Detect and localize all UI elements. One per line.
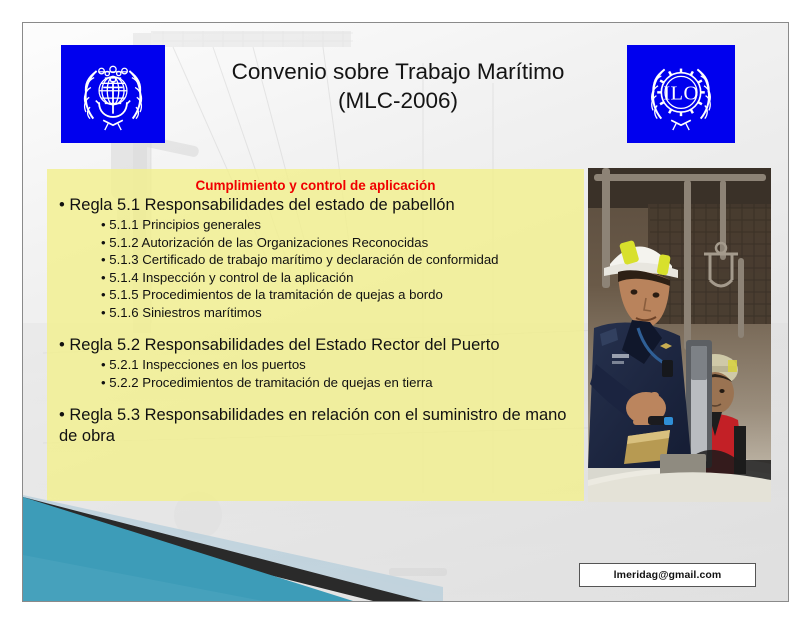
- bullet-regla-5-2: • Regla 5.2 Responsabilidades del Estado…: [57, 335, 574, 356]
- ilo-emblem-icon: ILO: [636, 53, 726, 135]
- content-panel: Cumplimiento y control de aplicación • R…: [47, 169, 584, 501]
- bullet-5-1-4: • 5.1.4 Inspección y control de la aplic…: [57, 269, 574, 287]
- page-title: Convenio sobre Trabajo Marítimo (MLC-200…: [183, 57, 613, 115]
- section-heading: Cumplimiento y control de aplicación: [57, 177, 574, 194]
- bullet-5-1-3: • 5.1.3 Certificado de trabajo marítimo …: [57, 251, 574, 269]
- bullet-regla-5-3: • Regla 5.3 Responsabilidades en relació…: [57, 405, 574, 447]
- bullet-5-1-6: • 5.1.6 Siniestros marítimos: [57, 304, 574, 322]
- slide-canvas: ILO Convenio sobre Trabajo Marítimo (MLC…: [22, 22, 789, 602]
- email-text: lmeridag@gmail.com: [614, 569, 722, 581]
- ilo-logo-text: ILO: [663, 83, 698, 105]
- imo-emblem-icon: [70, 53, 156, 135]
- bullet-5-1-1: • 5.1.1 Principios generales: [57, 216, 574, 234]
- bullet-5-2-1: • 5.2.1 Inspecciones en los puertos: [57, 356, 574, 374]
- spacer: [57, 391, 574, 405]
- ilo-logo: ILO: [627, 45, 735, 143]
- inspection-photo-content: [588, 168, 771, 502]
- email-badge: lmeridag@gmail.com: [579, 563, 756, 587]
- bullet-regla-5-1: • Regla 5.1 Responsabilidades del estado…: [57, 195, 574, 216]
- bullet-5-1-5: • 5.1.5 Procedimientos de la tramitación…: [57, 286, 574, 304]
- imo-logo: [61, 45, 165, 143]
- spacer: [57, 321, 574, 335]
- inspection-photo: [588, 168, 771, 502]
- bullet-5-2-2: • 5.2.2 Procedimientos de tramitación de…: [57, 374, 574, 392]
- bullet-5-1-2: • 5.1.2 Autorización de las Organizacion…: [57, 234, 574, 252]
